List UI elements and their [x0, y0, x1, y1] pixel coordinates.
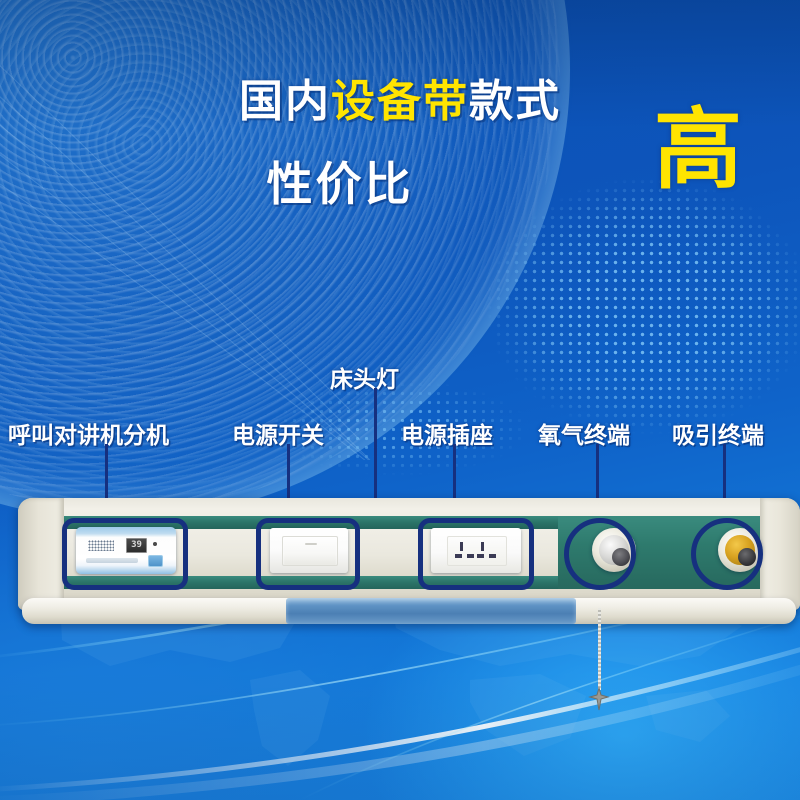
- callout-label-intercom: 呼叫对讲机分机: [8, 416, 169, 450]
- callout-label-power-socket: 电源插座: [401, 416, 493, 450]
- callout-label-suction: 吸引终端: [672, 416, 764, 450]
- callout-label-bed-lamp: 床头灯: [330, 360, 399, 394]
- highlight-box-intercom: [62, 518, 188, 590]
- unit-end-cap-left: [18, 498, 64, 610]
- highlight-circle-suction: [691, 518, 763, 590]
- callout-label-oxygen: 氧气终端: [538, 416, 630, 450]
- bed-lamp-diffuser: [286, 598, 576, 624]
- promo-banner: 国内设备带款式 性价比 高 呼叫对讲机分机 电源开关 床头灯 电源插座 氧气终端…: [0, 0, 800, 800]
- pull-cord-pendant-icon[interactable]: [588, 686, 610, 712]
- highlight-circle-oxygen: [564, 518, 636, 590]
- unit-end-cap-right: [760, 498, 800, 610]
- callout-labels-layer: 呼叫对讲机分机 电源开关 床头灯 电源插座 氧气终端 吸引终端: [0, 0, 800, 800]
- highlight-box-power-switch: [256, 518, 360, 590]
- callout-label-power-switch: 电源开关: [232, 416, 324, 450]
- highlight-box-power-socket: [418, 518, 534, 590]
- pull-cord[interactable]: [598, 608, 601, 690]
